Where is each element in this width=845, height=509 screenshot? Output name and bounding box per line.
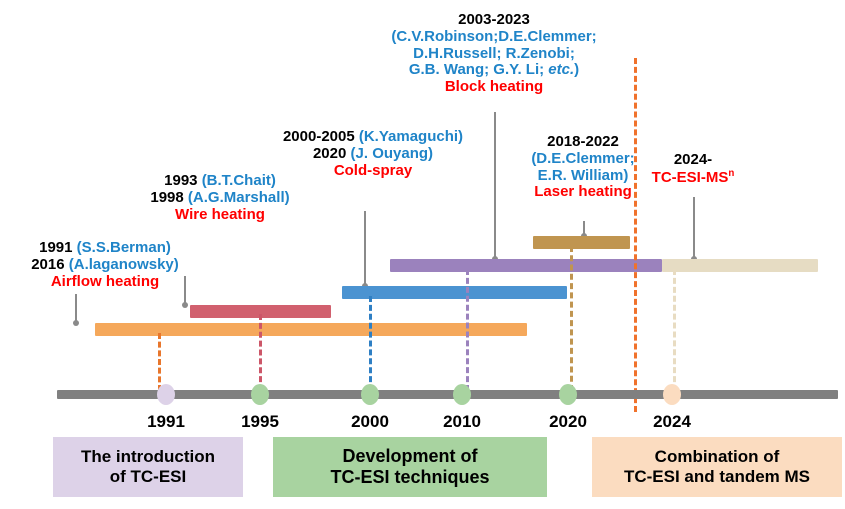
annotation-airflow-technique: Airflow heating <box>0 274 210 291</box>
annotation-wire-year1: 1993 <box>164 172 197 189</box>
annotation-wire-author2: (A.G.Marshall) <box>188 189 290 206</box>
bar-block-heating <box>390 259 662 272</box>
axis-tick-label-2020: 2020 <box>528 412 608 432</box>
leader-line-laser <box>583 221 585 236</box>
leader-line-coldspray <box>364 211 366 286</box>
axis-tick-label-2000: 2000 <box>330 412 410 432</box>
annotation-laser-technique: Laser heating <box>498 184 668 201</box>
axis-node-2020[interactable] <box>559 384 577 405</box>
drop-line-1995 <box>259 314 262 391</box>
annotation-airflow-heating: 1991 (S.S.Berman) 2016 (A.laganowsky) Ai… <box>0 240 210 290</box>
drop-line-2000 <box>369 296 372 391</box>
annotation-airflow-year2: 2016 <box>31 256 64 273</box>
phase-development-line2: TC-ESI techniques <box>273 467 547 488</box>
annotation-cold-spray: 2000-2005 (K.Yamaguchi) 2020 (J. Ouyang)… <box>248 129 498 179</box>
leader-line-tandem <box>693 197 695 259</box>
phase-introduction-line1: The introduction <box>53 447 243 467</box>
axis-node-2024[interactable] <box>663 384 681 405</box>
annotation-coldspray-author1: (K.Yamaguchi) <box>359 128 463 145</box>
annotation-block-technique: Block heating <box>344 79 644 96</box>
leader-line-wire <box>184 276 186 305</box>
phase-development-line1: Development of <box>273 446 547 467</box>
annotation-wire-heating: 1993 (B.T.Chait) 1998 (A.G.Marshall) Wir… <box>110 173 330 223</box>
annotation-laser-years: 2018-2022 <box>498 134 668 151</box>
annotation-block-authors-line1: (C.V.Robinson;D.E.Clemmer; <box>344 29 644 46</box>
annotation-block-heating: 2003-2023 (C.V.Robinson;D.E.Clemmer; D.H… <box>344 12 644 96</box>
bar-tandem-ms <box>662 259 818 272</box>
annotation-block-etc: etc. <box>548 61 574 78</box>
drop-line-1991 <box>158 333 161 391</box>
annotation-tandem-technique-base: TC-ESI-MS <box>652 169 729 186</box>
annotation-coldspray-technique: Cold-spray <box>248 163 498 180</box>
annotation-block-authors-line2: D.H.Russell; R.Zenobi; <box>344 46 644 63</box>
phase-box-introduction: The introduction of TC-ESI <box>53 437 243 497</box>
axis-node-2000[interactable] <box>361 384 379 405</box>
axis-tick-label-1995: 1995 <box>220 412 300 432</box>
annotation-airflow-author1: (S.S.Berman) <box>77 239 171 256</box>
annotation-block-authors-line3a: G.B. Wang; G.Y. Li; <box>409 61 548 78</box>
annotation-block-years: 2003-2023 <box>344 12 644 29</box>
axis-tick-label-1991: 1991 <box>126 412 206 432</box>
annotation-coldspray-line1: 2000-2005 (K.Yamaguchi) <box>248 129 498 146</box>
annotation-tandem-years: 2024- <box>623 152 763 169</box>
annotation-airflow-line2: 2016 (A.laganowsky) <box>0 257 210 274</box>
drop-line-2023 <box>634 58 637 412</box>
drop-line-2010 <box>466 269 469 391</box>
annotation-coldspray-year1: 2000-2005 <box>283 128 355 145</box>
axis-tick-label-2010: 2010 <box>422 412 502 432</box>
annotation-tandem-technique-superscript: n <box>728 168 734 179</box>
axis-node-1991[interactable] <box>157 384 175 405</box>
axis-node-1995[interactable] <box>251 384 269 405</box>
phase-box-development: Development of TC-ESI techniques <box>273 437 547 497</box>
annotation-coldspray-year2: 2020 <box>313 145 346 162</box>
annotation-wire-technique: Wire heating <box>110 207 330 224</box>
annotation-coldspray-author2: (J. Ouyang) <box>351 145 434 162</box>
phase-introduction-line2: of TC-ESI <box>53 467 243 487</box>
annotation-wire-line2: 1998 (A.G.Marshall) <box>110 190 330 207</box>
drop-line-2020 <box>570 246 573 391</box>
leader-line-airflow <box>75 294 77 323</box>
axis-tick-label-2024: 2024 <box>632 412 712 432</box>
bar-laser-heating <box>533 236 630 249</box>
annotation-coldspray-line2: 2020 (J. Ouyang) <box>248 146 498 163</box>
timeline-figure: 1991 (S.S.Berman) 2016 (A.laganowsky) Ai… <box>0 0 845 509</box>
annotation-airflow-author2: (A.laganowsky) <box>69 256 179 273</box>
axis-node-2010[interactable] <box>453 384 471 405</box>
drop-line-2024 <box>673 269 676 391</box>
phase-combination-line1: Combination of <box>592 447 842 467</box>
leader-line-block <box>494 112 496 259</box>
phase-box-combination: Combination of TC-ESI and tandem MS <box>592 437 842 497</box>
phase-combination-line2: TC-ESI and tandem MS <box>592 467 842 487</box>
annotation-block-authors-line3c: ) <box>574 61 579 78</box>
annotation-tandem-ms: 2024- TC-ESI-MSn <box>623 152 763 187</box>
annotation-tandem-technique: TC-ESI-MSn <box>623 169 763 187</box>
bar-cold-spray <box>342 286 567 299</box>
annotation-airflow-year1: 1991 <box>39 239 72 256</box>
annotation-airflow-line1: 1991 (S.S.Berman) <box>0 240 210 257</box>
annotation-block-authors-line3: G.B. Wang; G.Y. Li; etc.) <box>344 62 644 79</box>
annotation-wire-year2: 1998 <box>150 189 183 206</box>
